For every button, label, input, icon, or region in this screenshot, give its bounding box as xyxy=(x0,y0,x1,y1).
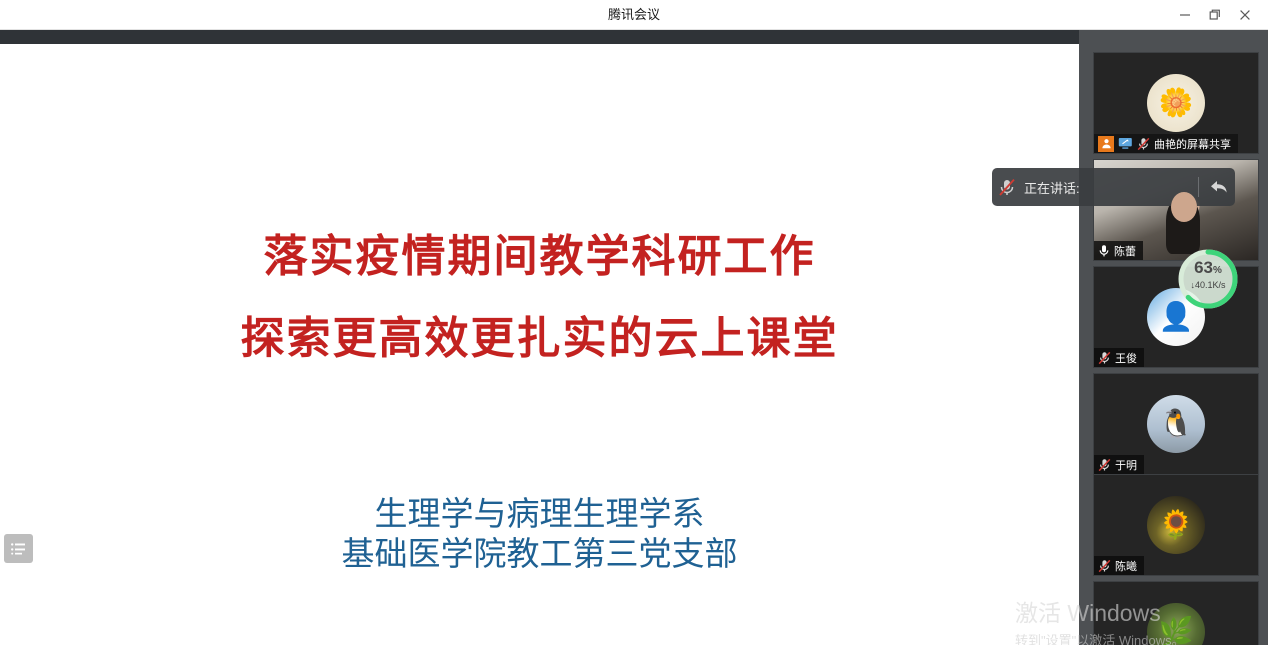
participant-avatar-area: 🌿 xyxy=(1094,582,1258,645)
participant-name: 陈曦 xyxy=(1115,558,1137,574)
participant-tile-li-xinglin[interactable]: 🌿 李杏林 xyxy=(1093,581,1259,645)
slide-title-line-1: 落实疫情期间教学科研工作 xyxy=(0,220,1079,284)
download-percent: 63% xyxy=(1176,258,1240,278)
restore-icon[interactable] xyxy=(1200,0,1230,30)
screen-share-icon xyxy=(1118,137,1133,150)
slide-title-line-2: 探索更高效更扎实的云上课堂 xyxy=(0,302,1079,366)
avatar: 🌻 xyxy=(1147,496,1205,554)
avatar: 🐧 xyxy=(1147,395,1205,453)
download-progress-indicator: 63% ↓40.1K/s xyxy=(1176,247,1240,311)
mic-muted-icon[interactable] xyxy=(998,178,1016,197)
participant-name: 陈蕾 xyxy=(1114,243,1136,259)
toolbar-divider xyxy=(1198,177,1199,197)
person-icon xyxy=(1098,136,1114,152)
window-titlebar: 腾讯会议 xyxy=(0,0,1268,30)
avatar: 🌼 xyxy=(1147,74,1205,132)
window-title: 腾讯会议 xyxy=(0,0,1268,30)
participant-namebar: 陈蕾 xyxy=(1094,241,1143,260)
minimize-icon[interactable] xyxy=(1170,0,1200,30)
shared-screen-topbar xyxy=(0,30,1079,44)
participant-namebar: 曲艳的屏幕共享 xyxy=(1094,134,1238,153)
participant-namebar: 于明 xyxy=(1094,455,1144,474)
participant-tile-yu-ming[interactable]: 🐧 于明 xyxy=(1093,373,1259,475)
avatar: 🌿 xyxy=(1147,603,1205,645)
mic-muted-icon xyxy=(1098,351,1111,365)
mic-muted-icon xyxy=(1098,458,1111,472)
participant-tile-screen-share[interactable]: 🌼 xyxy=(1093,52,1259,154)
participant-tile-chen-xi[interactable]: 🌻 陈曦 xyxy=(1093,474,1259,576)
mic-on-icon xyxy=(1098,244,1110,258)
mic-muted-icon xyxy=(1098,559,1111,573)
return-arrow-icon[interactable] xyxy=(1209,178,1229,196)
speaking-toolbar[interactable]: 正在讲话: xyxy=(992,168,1235,206)
participant-name: 王俊 xyxy=(1115,350,1137,366)
close-icon[interactable] xyxy=(1230,0,1260,30)
slide-subtitle-line-2: 基础医学院教工第三党支部 xyxy=(0,527,1079,575)
progress-ring xyxy=(1176,247,1240,311)
avatar-glyph: 🌻 xyxy=(1159,511,1194,539)
shared-screen-area: 落实疫情期间教学科研工作 探索更高效更扎实的云上课堂 生理学与病理生理学系 基础… xyxy=(0,30,1079,645)
avatar-glyph: 🐧 xyxy=(1159,410,1194,438)
presentation-slide: 落实疫情期间教学科研工作 探索更高效更扎实的云上课堂 生理学与病理生理学系 基础… xyxy=(0,44,1079,645)
participant-namebar: 王俊 xyxy=(1094,348,1144,367)
avatar-glyph: 🌼 xyxy=(1159,89,1194,117)
participant-sidebar[interactable]: 🌼 xyxy=(1079,30,1268,645)
avatar-glyph: 🌿 xyxy=(1159,618,1194,645)
download-speed: ↓40.1K/s xyxy=(1176,280,1240,290)
participant-namebar: 陈曦 xyxy=(1094,556,1144,575)
mic-muted-icon xyxy=(1137,137,1150,151)
speaking-label: 正在讲话: xyxy=(1024,178,1080,197)
participant-name: 曲艳的屏幕共享 xyxy=(1154,136,1231,152)
outline-list-icon[interactable] xyxy=(4,534,33,563)
participant-name: 于明 xyxy=(1115,457,1137,473)
